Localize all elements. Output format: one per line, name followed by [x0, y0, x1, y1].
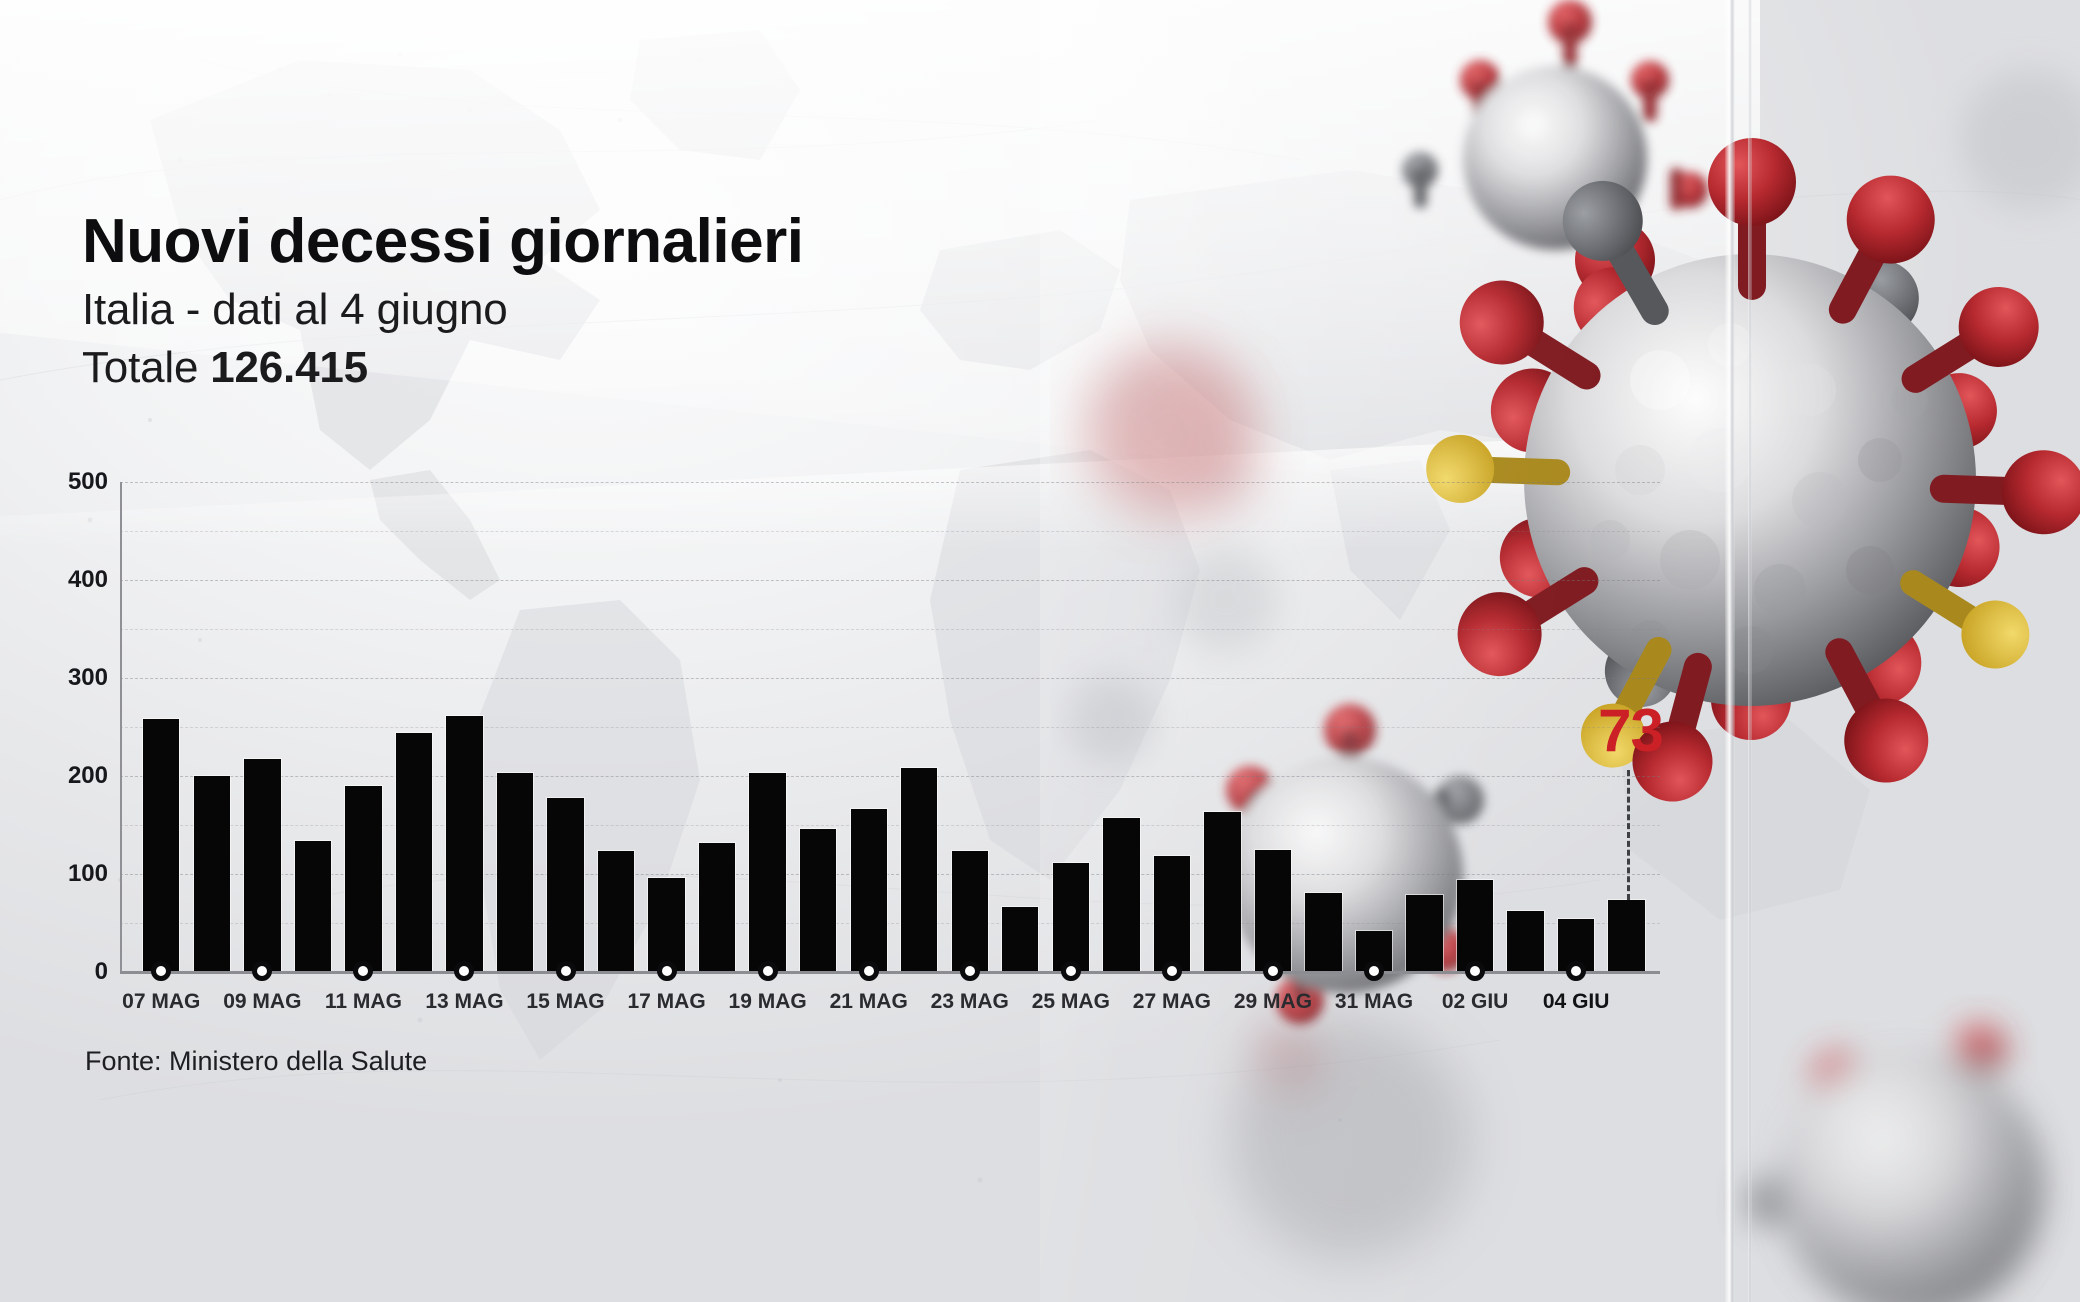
- x-axis-label: 02 GIU: [1442, 990, 1509, 1014]
- tick-slot: [945, 961, 996, 983]
- bar-slot: [389, 482, 440, 972]
- axis-tick-dot-icon: [1465, 961, 1485, 981]
- bar-slot: [945, 482, 996, 972]
- bar[interactable]: [1204, 812, 1240, 972]
- axis-tick-dot-icon: [1061, 961, 1081, 981]
- tick-slot: [1298, 961, 1349, 983]
- x-label-slot: 27 MAG: [1147, 990, 1198, 1024]
- total-label: Totale: [82, 343, 198, 392]
- axis-tick-dot-icon: [1364, 961, 1384, 981]
- callout-value: 73: [1598, 696, 1663, 765]
- bar-slot: [1248, 482, 1299, 972]
- tick-slot: [338, 961, 389, 983]
- tick-slot: [1096, 961, 1147, 983]
- bar[interactable]: [1154, 856, 1190, 972]
- bar[interactable]: [1103, 818, 1139, 972]
- bar-slot: [237, 482, 288, 972]
- bar-slot: [338, 482, 389, 972]
- axis-tick-dot-icon: [556, 961, 576, 981]
- bar[interactable]: [800, 829, 836, 972]
- bar[interactable]: [244, 759, 280, 972]
- tick-slot: [1046, 961, 1097, 983]
- y-axis-label: 100: [68, 860, 108, 888]
- bar-slot: [692, 482, 743, 972]
- x-label-slot: 31 MAG: [1349, 990, 1400, 1024]
- y-axis-label: 200: [68, 762, 108, 790]
- axis-tick-dot-icon: [1263, 961, 1283, 981]
- tick-slot: [490, 961, 541, 983]
- bar[interactable]: [1053, 863, 1089, 972]
- tick-slot: [793, 961, 844, 983]
- bar-slot: [843, 482, 894, 972]
- tick-slot: [1399, 961, 1450, 983]
- tick-slot: [1601, 961, 1652, 983]
- bar[interactable]: [901, 768, 937, 972]
- x-label-slot: 13 MAG: [439, 990, 490, 1024]
- bar-slot: [591, 482, 642, 972]
- tick-slot: [187, 961, 238, 983]
- bar[interactable]: [648, 878, 684, 972]
- bar-slot: [641, 482, 692, 972]
- axis-tick-dot-icon: [1162, 961, 1182, 981]
- tick-slot: [742, 961, 793, 983]
- source-note: Fonte: Ministero della Salute: [85, 1046, 427, 1077]
- bar[interactable]: [1255, 850, 1291, 973]
- bar[interactable]: [446, 716, 482, 972]
- x-axis-label: 04 GIU: [1543, 990, 1610, 1014]
- x-label-slot: 07 MAG: [136, 990, 187, 1024]
- tick-slot: [692, 961, 743, 983]
- x-label-slot: 25 MAG: [1046, 990, 1097, 1024]
- bar[interactable]: [143, 719, 179, 972]
- axis-tick-dot-icon: [758, 961, 778, 981]
- tick-slot: [136, 961, 187, 983]
- y-axis-label: 300: [68, 664, 108, 692]
- bar-slot: [1349, 482, 1400, 972]
- tick-slot: [1147, 961, 1198, 983]
- chart-header: Nuovi decessi giornalieri Italia - dati …: [82, 210, 803, 393]
- x-label-slot: 17 MAG: [641, 990, 692, 1024]
- bar[interactable]: [396, 733, 432, 972]
- page-title: Nuovi decessi giornalieri: [82, 210, 803, 273]
- callout-leader-line: [1627, 770, 1630, 900]
- bar-slot: [540, 482, 591, 972]
- bar-slot: [490, 482, 541, 972]
- x-label-slot: 23 MAG: [945, 990, 996, 1024]
- x-axis-labels: 07 MAG09 MAG11 MAG13 MAG15 MAG17 MAG19 M…: [122, 990, 1660, 1024]
- axis-tick-dot-icon: [859, 961, 879, 981]
- bar-slot: [1096, 482, 1147, 972]
- x-label-slot: 02 GIU: [1450, 990, 1501, 1024]
- y-axis-label: 400: [68, 566, 108, 594]
- tick-slot: [591, 961, 642, 983]
- x-label-slot: 11 MAG: [338, 990, 389, 1024]
- y-axis-label: 0: [95, 958, 108, 986]
- axis-tick-dot-icon: [151, 961, 171, 981]
- y-axis-labels: 0100200300400500: [24, 482, 108, 972]
- bar-slot: [1450, 482, 1501, 972]
- tick-slot: [1349, 961, 1400, 983]
- bar[interactable]: [547, 798, 583, 972]
- bar-slot: [1399, 482, 1450, 972]
- chart-subtitle: Italia - dati al 4 giugno: [82, 285, 803, 335]
- bar-slot: [1147, 482, 1198, 972]
- bar[interactable]: [749, 773, 785, 972]
- axis-tick-dot-icon: [252, 961, 272, 981]
- bar[interactable]: [699, 843, 735, 972]
- tick-slot: [439, 961, 490, 983]
- total-value: 126.415: [210, 343, 368, 392]
- y-axis-label: 500: [68, 468, 108, 496]
- axis-tick-dot-icon: [353, 961, 373, 981]
- bar[interactable]: [295, 841, 331, 972]
- bar[interactable]: [851, 809, 887, 972]
- axis-tick-dot-icon: [1566, 961, 1586, 981]
- tick-slot: [237, 961, 288, 983]
- x-label-slot: 15 MAG: [540, 990, 591, 1024]
- tick-slot: [1450, 961, 1501, 983]
- axis-tick-dot-icon: [960, 961, 980, 981]
- bar-slot: [439, 482, 490, 972]
- bar-slot: [1298, 482, 1349, 972]
- tick-slot: [288, 961, 339, 983]
- bar-slot: [1046, 482, 1097, 972]
- bar-chart: 0100200300400500 07 MAG09 MAG11 MAG13 MA…: [120, 482, 1660, 972]
- bar-slot: [995, 482, 1046, 972]
- bar-slot: [894, 482, 945, 972]
- bar-slot: [1500, 482, 1551, 972]
- bar[interactable]: [952, 851, 988, 972]
- tick-slot: [389, 961, 440, 983]
- tick-slot: [843, 961, 894, 983]
- x-label-slot: [1601, 990, 1652, 1024]
- bars-container: [122, 482, 1660, 972]
- bar-slot: [187, 482, 238, 972]
- x-axis-tick-dots: [122, 961, 1660, 983]
- bar[interactable]: [598, 851, 634, 972]
- tick-slot: [540, 961, 591, 983]
- axis-tick-dot-icon: [454, 961, 474, 981]
- bar-slot: [793, 482, 844, 972]
- x-label-slot: 09 MAG: [237, 990, 288, 1024]
- total-line: Totale 126.415: [82, 343, 803, 393]
- bar[interactable]: [497, 773, 533, 972]
- tick-slot: [995, 961, 1046, 983]
- tick-slot: [1248, 961, 1299, 983]
- tick-slot: [1551, 961, 1602, 983]
- bar-slot: [742, 482, 793, 972]
- tick-slot: [641, 961, 692, 983]
- x-label-slot: 29 MAG: [1248, 990, 1299, 1024]
- bar-slot: [1197, 482, 1248, 972]
- bar-slot: [288, 482, 339, 972]
- x-label-slot: 04 GIU: [1551, 990, 1602, 1024]
- tick-slot: [894, 961, 945, 983]
- bar[interactable]: [345, 786, 381, 972]
- tick-slot: [1197, 961, 1248, 983]
- x-label-slot: 21 MAG: [843, 990, 894, 1024]
- tick-slot: [1500, 961, 1551, 983]
- x-label-slot: 19 MAG: [742, 990, 793, 1024]
- bar-slot: [1551, 482, 1602, 972]
- bar[interactable]: [194, 776, 230, 972]
- bar[interactable]: [1457, 880, 1493, 972]
- axis-tick-dot-icon: [657, 961, 677, 981]
- bar-slot: [136, 482, 187, 972]
